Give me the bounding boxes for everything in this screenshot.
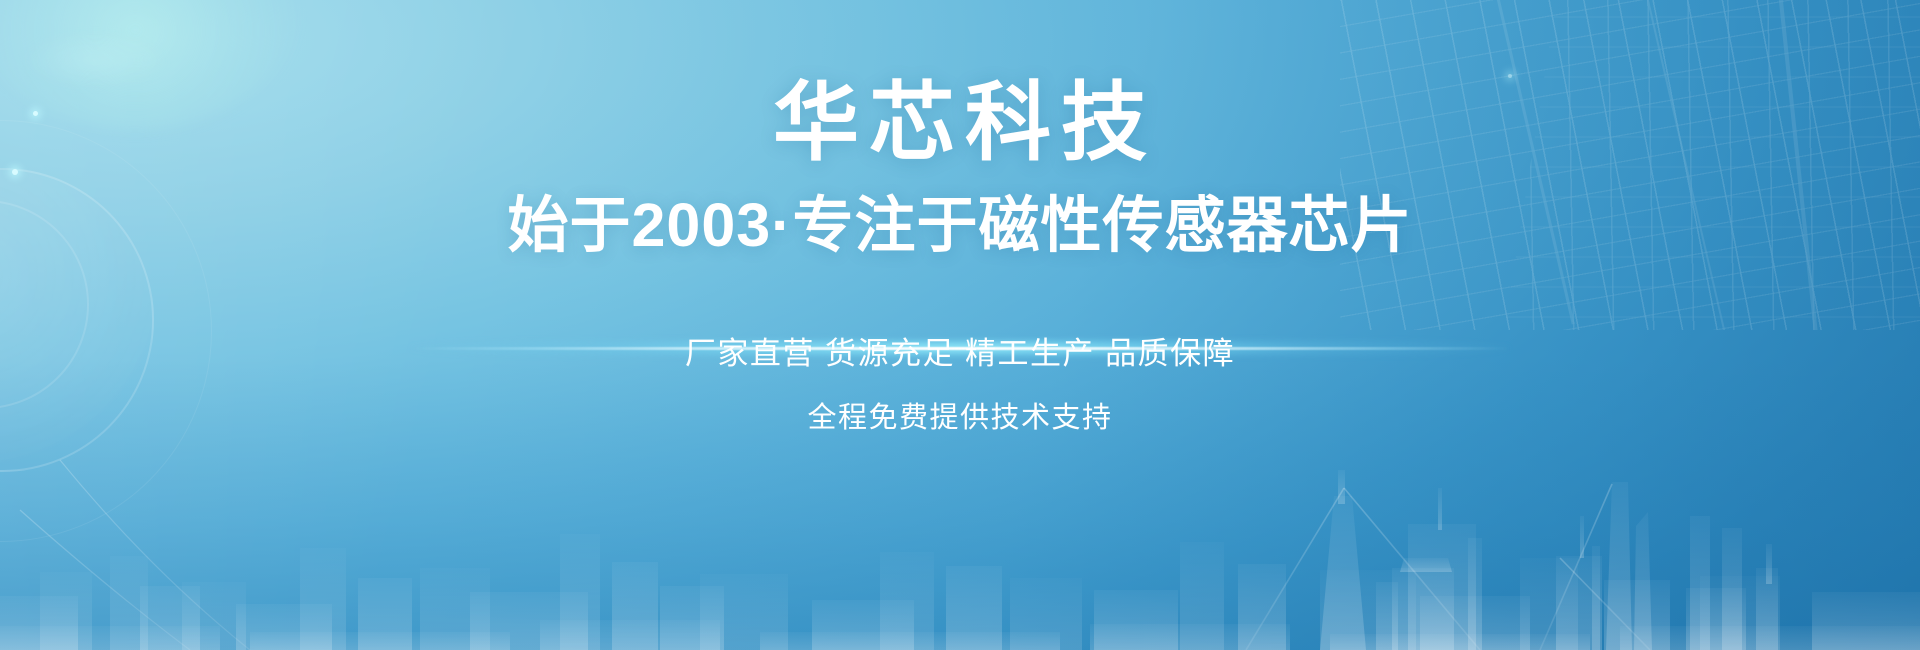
- banner-content: 华芯科技 始于2003·专注于磁性传感器芯片 厂家直营 货源充足 精工生产 品质…: [0, 0, 1920, 435]
- hero-banner: 华芯科技 始于2003·专注于磁性传感器芯片 厂家直营 货源充足 精工生产 品质…: [0, 0, 1920, 650]
- brand-subtitle: 始于2003·专注于磁性传感器芯片: [0, 169, 1920, 259]
- brand-title: 华芯科技: [0, 0, 1920, 169]
- support-statement: 全程免费提供技术支持: [0, 373, 1920, 436]
- feature-highlights: 厂家直营 货源充足 精工生产 品质保障: [0, 259, 1920, 372]
